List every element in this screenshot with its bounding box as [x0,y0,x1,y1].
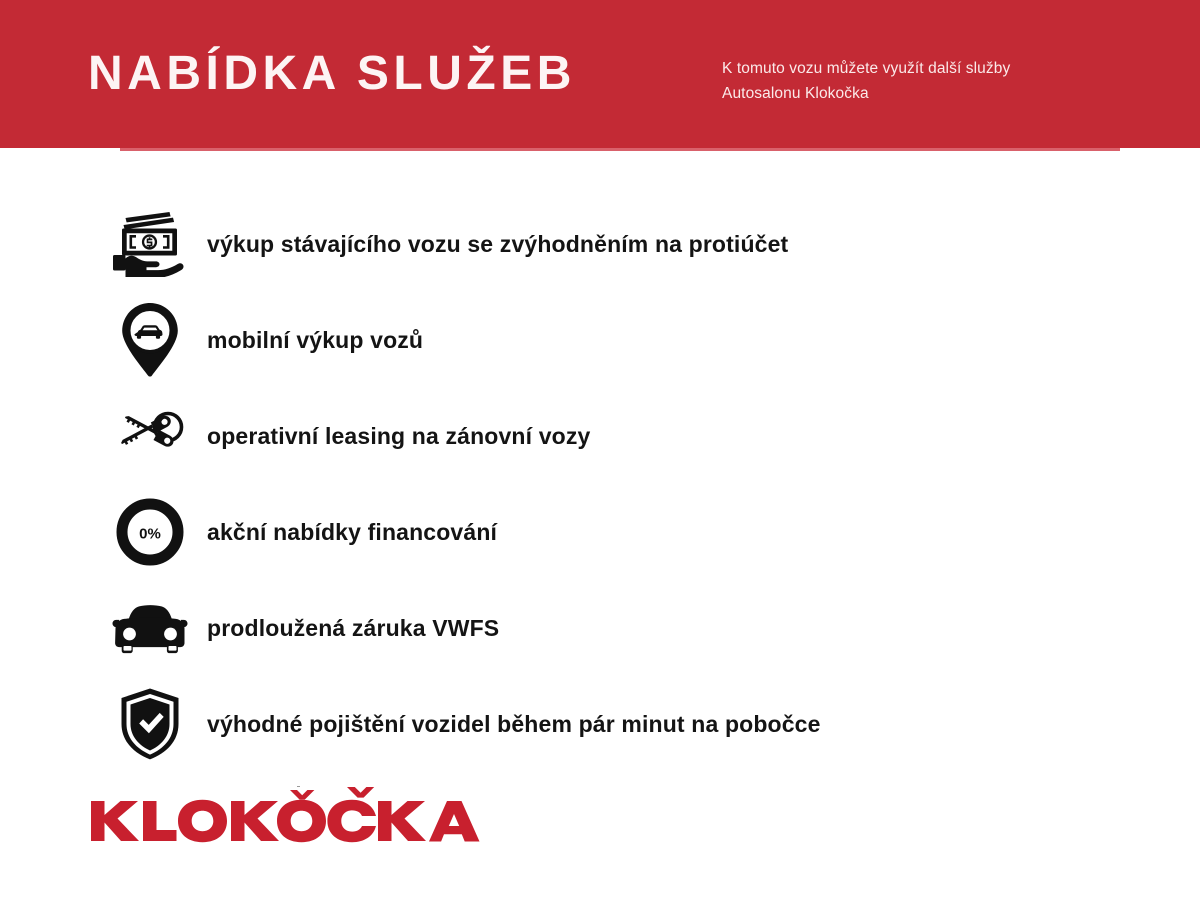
service-label: výhodné pojištění vozidel během pár minu… [207,711,821,738]
service-row: prodloužená záruka VWFS [105,580,1105,676]
header-subtitle: K tomuto vozu můžete využít další služby… [722,56,1122,106]
shield-check-icon [105,686,195,762]
zero-percent-text: 0% [139,526,161,543]
car-front-icon [105,590,195,666]
slide-root: NABÍDKA SLUŽEB K tomuto vozu můžete využ… [0,0,1200,899]
map-pin-car-icon [105,302,195,378]
header-underline-rule [120,148,1120,151]
header-subtitle-line-2: Autosalonu Klokočka [722,81,1122,106]
klokocka-logo [85,786,485,848]
header-subtitle-line-1: K tomuto vozu můžete využít další služby [722,56,1122,81]
service-label: operativní leasing na zánovní vozy [207,423,590,450]
service-row: operativní leasing na zánovní vozy [105,388,1105,484]
service-label: prodloužená záruka VWFS [207,615,499,642]
service-label: výkup stávajícího vozu se zvýhodněním na… [207,231,788,258]
service-label: akční nabídky financování [207,519,497,546]
service-label: mobilní výkup vozů [207,327,423,354]
services-list: výkup stávajícího vozu se zvýhodněním na… [105,196,1105,772]
money-in-hand-icon [105,206,195,282]
service-row: mobilní výkup vozů [105,292,1105,388]
service-row: výhodné pojištění vozidel během pár minu… [105,676,1105,772]
service-row: výkup stávajícího vozu se zvýhodněním na… [105,196,1105,292]
page-title: NABÍDKA SLUŽEB [88,45,576,103]
car-keys-icon [105,398,195,474]
zero-percent-circle-icon: 0% [105,494,195,570]
service-row: 0% akční nabídky financování [105,484,1105,580]
